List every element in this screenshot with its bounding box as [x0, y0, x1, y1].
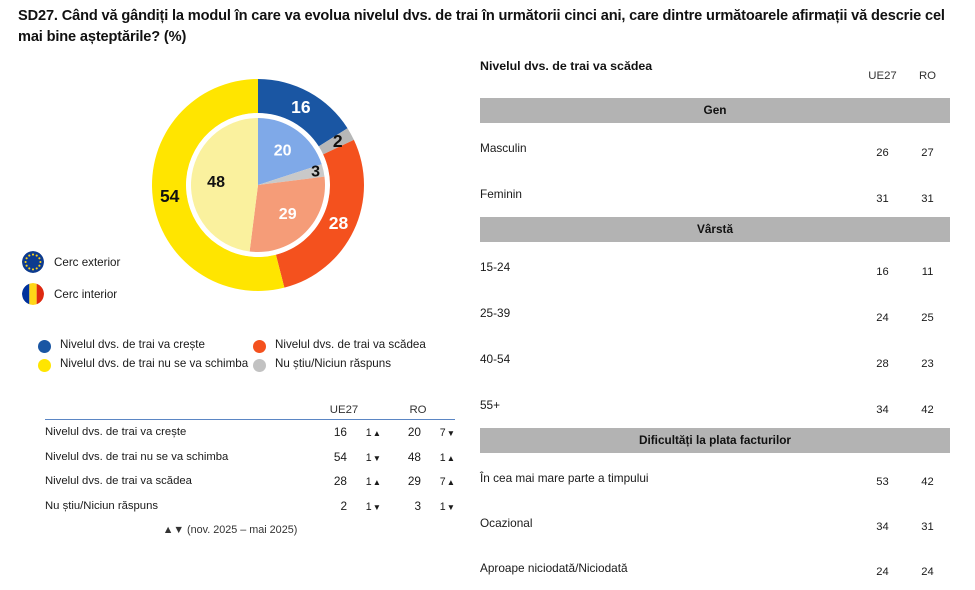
- breakdown-value-ro: 25: [905, 303, 950, 324]
- trend-arrow-down-icon: ▼: [373, 453, 381, 463]
- ring-legend-item-outer: Cerc exterior: [22, 246, 202, 278]
- legend-swatch-gray: [253, 359, 266, 372]
- page-root: SD27. Când vă gândiți la modul în care v…: [0, 0, 975, 556]
- trend-value-ue: 2: [317, 499, 347, 513]
- legend-item-scadere: Nivelul dvs. de trai va scădea: [253, 338, 468, 353]
- donut-slice-value: 48: [207, 174, 225, 191]
- trend-delta-ue-num: 1: [366, 427, 372, 439]
- table-row: Ocazional 34 31: [480, 500, 950, 545]
- trend-cell-ue: 16 1▲: [307, 425, 381, 439]
- trend-arrow-up-icon: ▲: [447, 453, 455, 463]
- trend-table-header-ue27: UE27: [307, 404, 381, 416]
- trend-value-ue: 54: [317, 450, 347, 464]
- trend-delta-ro-num: 7: [440, 476, 446, 488]
- ring-legend-label-inner: Cerc interior: [54, 288, 117, 301]
- trend-cell-ue: 2 1▼: [307, 499, 381, 513]
- trend-table: UE27 RO Nivelul dvs. de trai va crește 1…: [45, 404, 455, 536]
- trend-arrow-down-icon: ▼: [373, 502, 381, 512]
- legend-item-crestere: Nivelul dvs. de trai va crește: [38, 338, 253, 353]
- breakdown-value-ue: 34: [860, 395, 905, 416]
- breakdown-row-label: 15-24: [480, 260, 860, 274]
- donut-slice-value: 29: [279, 206, 297, 223]
- trend-cell-ue: 54 1▼: [307, 450, 381, 464]
- trend-delta-ro: 7▲: [421, 476, 455, 488]
- trend-value-ro: 3: [391, 499, 421, 513]
- breakdown-row-label: În cea mai mare parte a timpului: [480, 471, 860, 485]
- ring-legend: Cerc exterior Cerc interior: [22, 246, 202, 310]
- legend-swatch-orange: [253, 340, 266, 353]
- trend-delta-ue-num: 1: [366, 452, 372, 464]
- trend-delta-ue: 1▲: [347, 476, 381, 488]
- legend-swatch-blue: [38, 340, 51, 353]
- table-row: Masculin 26 27: [480, 125, 950, 171]
- breakdown-value-ue: 28: [860, 349, 905, 370]
- donut-slice-value: 54: [160, 186, 180, 206]
- trend-cell-ro: 29 7▲: [381, 474, 455, 488]
- trend-delta-ue: 1▲: [347, 427, 381, 439]
- trend-value-ro: 20: [391, 425, 421, 439]
- page-title: SD27. Când vă gândiți la modul în care v…: [18, 6, 948, 47]
- legend-label-scadere: Nivelul dvs. de trai va scădea: [275, 338, 426, 353]
- breakdown-row-label: 25-39: [480, 306, 860, 320]
- breakdown-row-label: Masculin: [480, 141, 860, 155]
- trend-table-header-ro: RO: [381, 404, 455, 416]
- breakdown-value-ro: 31: [905, 512, 950, 533]
- breakdown-value-ro: 27: [905, 138, 950, 159]
- trend-cell-ro: 20 7▼: [381, 425, 455, 439]
- breakdown-value-ue: 53: [860, 467, 905, 488]
- trend-delta-ro-num: 7: [440, 427, 446, 439]
- donut-slice-value: 3: [311, 164, 320, 181]
- trend-arrow-up-icon: ▲: [447, 477, 455, 487]
- table-row: În cea mai mare parte a timpului 53 42: [480, 455, 950, 500]
- trend-arrow-down-icon: ▼: [447, 502, 455, 512]
- trend-row-label: Nivelul dvs. de trai nu se va schimba: [45, 451, 307, 463]
- breakdown-value-ro: 31: [905, 184, 950, 205]
- trend-delta-ro-num: 1: [440, 501, 446, 513]
- trend-row-label: Nu știu/Niciun răspuns: [45, 500, 307, 512]
- breakdown-header: Nivelul dvs. de trai va scădea UE27 RO: [480, 58, 950, 82]
- table-row: 40-54 28 23: [480, 336, 950, 382]
- table-row: Nu știu/Niciun răspuns 2 1▼ 3 1▼: [45, 494, 455, 519]
- trend-value-ue: 16: [317, 425, 347, 439]
- ro-flag-icon: [22, 283, 44, 305]
- trend-delta-ue-num: 1: [366, 501, 372, 513]
- donut-slice-value: 20: [274, 143, 292, 160]
- breakdown-panel: Nivelul dvs. de trai va scădea UE27 RO G…: [480, 58, 950, 590]
- table-row: 15-24 16 11: [480, 244, 950, 290]
- breakdown-row-label: Aproape niciodată/Niciodată: [480, 561, 860, 575]
- ring-legend-item-inner: Cerc interior: [22, 278, 202, 310]
- breakdown-header-ue27: UE27: [860, 58, 905, 82]
- breakdown-value-ue: 24: [860, 557, 905, 578]
- trend-arrow-down-icon: ▼: [447, 428, 455, 438]
- donut-slice-value: 2: [333, 131, 343, 151]
- breakdown-value-ro: 11: [905, 257, 950, 278]
- donut-slice-value: 28: [329, 213, 349, 233]
- trend-delta-ro: 7▼: [421, 427, 455, 439]
- trend-table-header: UE27 RO: [45, 404, 455, 420]
- trend-delta-ue: 1▼: [347, 501, 381, 513]
- table-row: Aproape niciodată/Niciodată 24 24: [480, 545, 950, 590]
- trend-delta-ro-num: 1: [440, 452, 446, 464]
- breakdown-value-ro: 24: [905, 557, 950, 578]
- breakdown-row-label: Ocazional: [480, 516, 860, 530]
- breakdown-header-ro: RO: [905, 58, 950, 82]
- trend-table-footnote: ▲▼ (nov. 2025 – mai 2025): [45, 524, 455, 536]
- table-row: Feminin 31 31: [480, 171, 950, 217]
- trend-cell-ro: 3 1▼: [381, 499, 455, 513]
- legend-label-nustiu: Nu știu/Niciun răspuns: [275, 357, 391, 372]
- donut-slice-value: 16: [291, 97, 311, 117]
- legend-label-neschimbat: Nivelul dvs. de trai nu se va schimba: [60, 357, 248, 372]
- table-row: Nivelul dvs. de trai va crește 16 1▲ 20 …: [45, 420, 455, 445]
- trend-delta-ro: 1▼: [421, 501, 455, 513]
- breakdown-row-label: 40-54: [480, 352, 860, 366]
- trend-value-ro: 48: [391, 450, 421, 464]
- trend-delta-ue-num: 1: [366, 476, 372, 488]
- breakdown-value-ro: 42: [905, 467, 950, 488]
- trend-cell-ue: 28 1▲: [307, 474, 381, 488]
- trend-row-label: Nivelul dvs. de trai va scădea: [45, 475, 307, 487]
- breakdown-value-ro: 23: [905, 349, 950, 370]
- table-row: Nivelul dvs. de trai va scădea 28 1▲ 29 …: [45, 469, 455, 494]
- trend-arrow-up-icon: ▲: [373, 477, 381, 487]
- section-header-dificultati: Dificultăți la plata facturilor: [480, 428, 950, 453]
- eu-flag-icon: [22, 251, 44, 273]
- trend-row-label: Nivelul dvs. de trai va crește: [45, 426, 307, 438]
- breakdown-value-ue: 34: [860, 512, 905, 533]
- trend-delta-ro: 1▲: [421, 452, 455, 464]
- category-legend: Nivelul dvs. de trai va crește Nivelul d…: [38, 338, 468, 376]
- legend-item-nustiu: Nu știu/Niciun răspuns: [253, 357, 468, 372]
- table-row: 55+ 34 42: [480, 382, 950, 428]
- ring-legend-label-outer: Cerc exterior: [54, 256, 120, 269]
- section-header-varsta: Vârstă: [480, 217, 950, 242]
- breakdown-value-ro: 42: [905, 395, 950, 416]
- trend-cell-ro: 48 1▲: [381, 450, 455, 464]
- breakdown-title: Nivelul dvs. de trai va scădea: [480, 58, 860, 73]
- trend-delta-ue: 1▼: [347, 452, 381, 464]
- trend-value-ue: 28: [317, 474, 347, 488]
- table-row: Nivelul dvs. de trai nu se va schimba 54…: [45, 445, 455, 470]
- breakdown-value-ue: 24: [860, 303, 905, 324]
- breakdown-value-ue: 26: [860, 138, 905, 159]
- trend-value-ro: 29: [391, 474, 421, 488]
- breakdown-row-label: Feminin: [480, 187, 860, 201]
- breakdown-value-ue: 31: [860, 184, 905, 205]
- trend-arrow-up-icon: ▲: [373, 428, 381, 438]
- breakdown-row-label: 55+: [480, 398, 860, 412]
- legend-item-neschimbat: Nivelul dvs. de trai nu se va schimba: [38, 357, 253, 372]
- legend-swatch-yellow: [38, 359, 51, 372]
- legend-label-crestere: Nivelul dvs. de trai va crește: [60, 338, 205, 353]
- breakdown-value-ue: 16: [860, 257, 905, 278]
- section-header-gen: Gen: [480, 98, 950, 123]
- table-row: 25-39 24 25: [480, 290, 950, 336]
